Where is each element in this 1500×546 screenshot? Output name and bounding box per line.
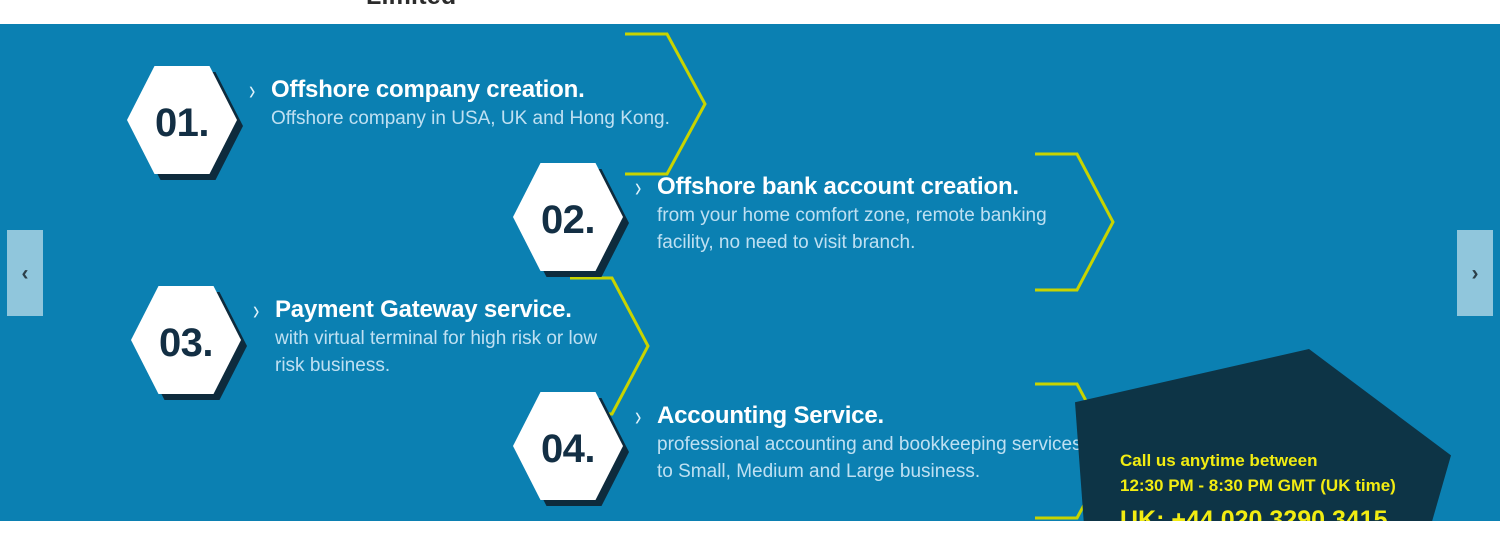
- service-title-line: › Offshore bank account creation.: [635, 173, 1087, 201]
- previous-section-strip: Limited: [0, 0, 1500, 24]
- step-badge-2: 02.: [513, 163, 623, 271]
- cut-off-heading: Limited: [366, 0, 456, 11]
- step-badge-4: 04.: [513, 392, 623, 500]
- service-description: with virtual terminal for high risk or l…: [275, 326, 620, 380]
- service-title: Offshore bank account creation.: [657, 173, 1019, 201]
- service-description: from your home comfort zone, remote bank…: [657, 203, 1087, 257]
- contact-callout: Call us anytime between 12:30 PM - 8:30 …: [1075, 349, 1475, 521]
- service-description: professional accounting and bookkeeping …: [657, 432, 1087, 486]
- service-description: Offshore company in USA, UK and Hong Kon…: [271, 106, 670, 133]
- service-row-3: 03. › Payment Gateway service. with virt…: [131, 286, 620, 394]
- service-text-3: › Payment Gateway service. with virtual …: [241, 286, 620, 380]
- service-title-line: › Offshore company creation.: [249, 76, 670, 104]
- service-title-line: › Payment Gateway service.: [253, 296, 620, 324]
- step-number: 03.: [131, 286, 241, 394]
- service-row-4: 04. › Accounting Service. professional a…: [513, 392, 1087, 500]
- chevron-bullet-icon: ›: [635, 404, 649, 432]
- service-text-2: › Offshore bank account creation. from y…: [623, 163, 1087, 257]
- service-title: Accounting Service.: [657, 402, 884, 430]
- step-badge-3: 03.: [131, 286, 241, 394]
- banner-slide: 01. › Offshore company creation. Offshor…: [0, 24, 1500, 521]
- service-title: Offshore company creation.: [271, 76, 585, 104]
- carousel-next-button[interactable]: ›: [1457, 230, 1493, 316]
- contact-hours-intro: Call us anytime between: [1120, 449, 1396, 474]
- step-number: 02.: [513, 163, 623, 271]
- contact-text-block: Call us anytime between 12:30 PM - 8:30 …: [1120, 449, 1396, 521]
- slider-banner: Limited: [0, 0, 1500, 546]
- contact-phone-number[interactable]: UK: +44 020 3290 3415: [1120, 506, 1396, 521]
- service-row-2: 02. › Offshore bank account creation. fr…: [513, 163, 1087, 271]
- chevron-bullet-icon: ›: [253, 298, 267, 326]
- service-row-1: 01. › Offshore company creation. Offshor…: [127, 66, 670, 174]
- carousel-prev-button[interactable]: ‹: [7, 230, 43, 316]
- service-text-4: › Accounting Service. professional accou…: [623, 392, 1087, 486]
- step-number: 04.: [513, 392, 623, 500]
- service-text-1: › Offshore company creation. Offshore co…: [237, 66, 670, 133]
- contact-hours-range: 12:30 PM - 8:30 PM GMT (UK time): [1120, 474, 1396, 499]
- step-badge-1: 01.: [127, 66, 237, 174]
- service-title: Payment Gateway service.: [275, 296, 572, 324]
- chevron-left-icon: ‹: [22, 263, 29, 284]
- step-number: 01.: [127, 66, 237, 174]
- chevron-bullet-icon: ›: [635, 175, 649, 203]
- chevron-right-icon: ›: [1472, 263, 1479, 284]
- service-title-line: › Accounting Service.: [635, 402, 1087, 430]
- chevron-bullet-icon: ›: [249, 78, 263, 106]
